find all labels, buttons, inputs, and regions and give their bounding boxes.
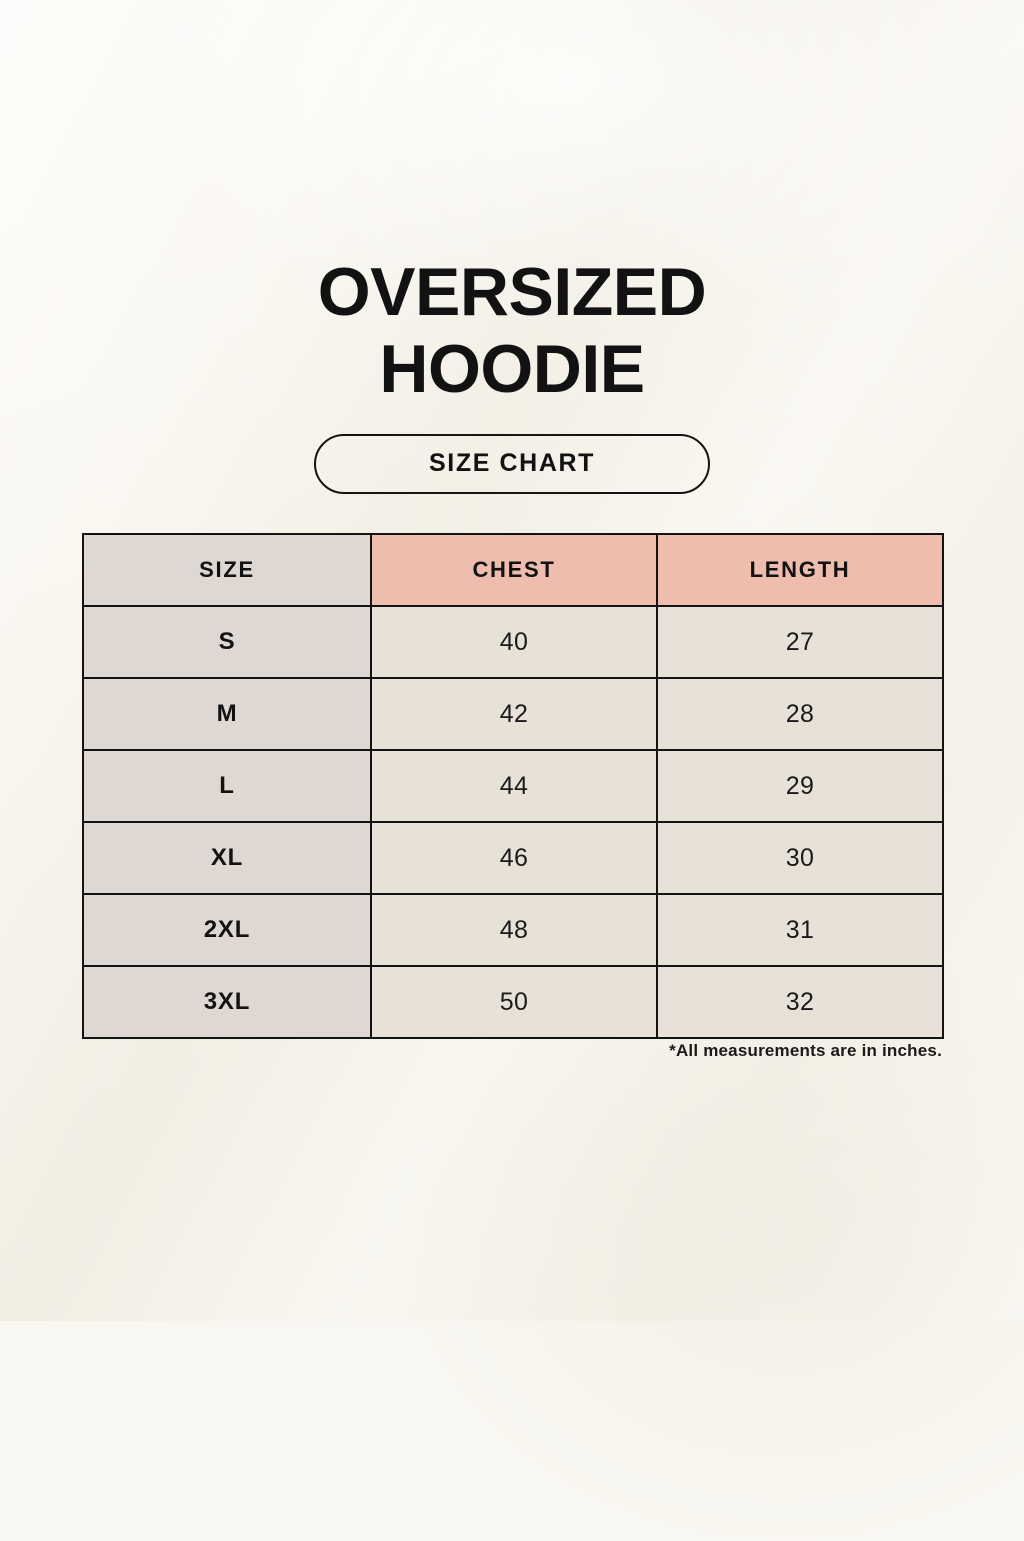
size-chart-table: SIZE CHEST LENGTH S 40 27 M 42 28 L [82,533,944,1039]
measurement-footnote: *All measurements are in inches. [82,1041,942,1061]
cell-chest: 42 [371,678,657,750]
table-row: XL 46 30 [83,822,943,894]
cell-size: S [83,606,371,678]
column-header-chest: CHEST [371,534,657,606]
cell-size: 2XL [83,894,371,966]
table-row: 3XL 50 32 [83,966,943,1038]
cell-length: 27 [657,606,943,678]
cell-size: XL [83,822,371,894]
cell-length: 28 [657,678,943,750]
table-body: S 40 27 M 42 28 L 44 29 XL 46 30 [83,606,943,1038]
page-title: OVERSIZED HOODIE [0,258,1024,403]
cell-length: 32 [657,966,943,1038]
page-title-line-2: HOODIE [0,335,1024,403]
page-title-line-1: OVERSIZED [0,258,1024,326]
size-chart-badge-container: SIZE CHART [0,434,1024,494]
table-row: S 40 27 [83,606,943,678]
size-chart-badge: SIZE CHART [314,434,710,494]
column-header-length: LENGTH [657,534,943,606]
cell-chest: 48 [371,894,657,966]
cell-size: L [83,750,371,822]
cell-chest: 46 [371,822,657,894]
cell-chest: 44 [371,750,657,822]
table-row: L 44 29 [83,750,943,822]
cell-size: M [83,678,371,750]
cell-size: 3XL [83,966,371,1038]
cell-chest: 50 [371,966,657,1038]
cell-length: 30 [657,822,943,894]
cell-length: 29 [657,750,943,822]
table-row: 2XL 48 31 [83,894,943,966]
column-header-size: SIZE [83,534,371,606]
table-header: SIZE CHEST LENGTH [83,534,943,606]
cell-length: 31 [657,894,943,966]
table-row: M 42 28 [83,678,943,750]
table-header-row: SIZE CHEST LENGTH [83,534,943,606]
size-chart-page: OVERSIZED HOODIE SIZE CHART SIZE CHEST L… [0,0,1024,1321]
cell-chest: 40 [371,606,657,678]
